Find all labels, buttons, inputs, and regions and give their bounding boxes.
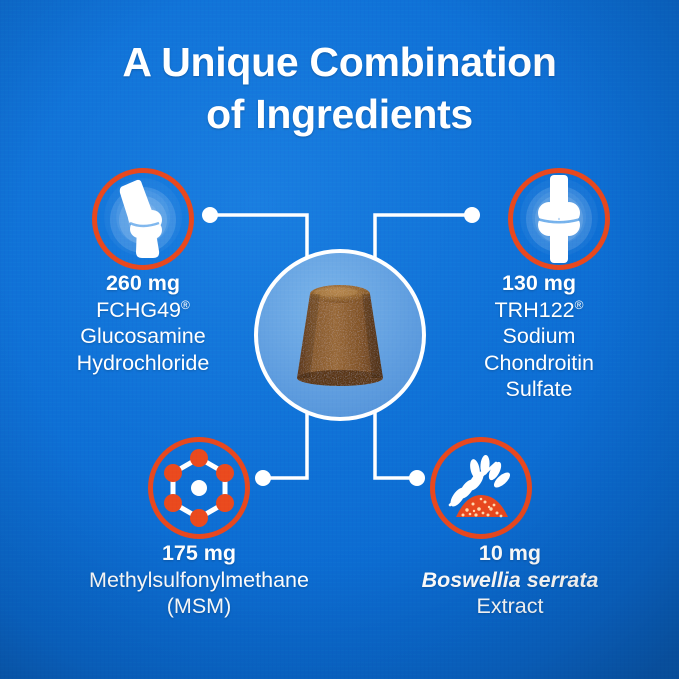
connector-bottom-right	[375, 410, 415, 478]
registered-mark-icon: ®	[181, 297, 190, 311]
amount-glucosamine: 260 mg	[23, 270, 263, 297]
name-glucosamine-brand: FCHG49®	[23, 297, 263, 324]
name-msm-line1: Methylsulfonylmethane	[49, 567, 349, 594]
title-line-2: of Ingredients	[0, 88, 679, 140]
icon-badge-glucosamine[interactable]	[92, 168, 194, 270]
page-title: A Unique Combination of Ingredients	[0, 36, 679, 140]
connector-dot-bottom-left	[255, 470, 271, 486]
herb-powder-icon	[440, 447, 522, 529]
name-chondroitin-line2: Sodium	[419, 323, 659, 350]
label-chondroitin: 130 mg TRH122® Sodium Chondroitin Sulfat…	[419, 270, 659, 403]
name-glucosamine-line3: Hydrochloride	[23, 350, 263, 377]
knee-joint-icon	[97, 173, 189, 265]
name-boswellia-species: Boswellia serrata	[365, 567, 655, 594]
connector-top-right	[375, 215, 470, 262]
connector-dot-top-left	[202, 207, 218, 223]
name-chondroitin-brand: TRH122®	[419, 297, 659, 324]
connector-bottom-left	[265, 410, 307, 478]
bone-joint-icon	[513, 173, 605, 265]
title-line-1: A Unique Combination	[0, 36, 679, 88]
amount-msm: 175 mg	[49, 540, 349, 567]
center-product-circle	[254, 249, 426, 421]
ingredients-infographic: A Unique Combination of Ingredients	[0, 0, 679, 679]
icon-badge-chondroitin[interactable]	[508, 168, 610, 270]
amount-boswellia: 10 mg	[365, 540, 655, 567]
name-glucosamine-line2: Glucosamine	[23, 323, 263, 350]
connector-top-left	[212, 215, 307, 262]
icon-badge-msm[interactable]	[148, 437, 250, 539]
label-glucosamine: 260 mg FCHG49® Glucosamine Hydrochloride	[23, 270, 263, 376]
name-boswellia-line2: Extract	[365, 593, 655, 620]
registered-mark-icon: ®	[575, 297, 584, 311]
name-chondroitin-line4: Sulfate	[419, 376, 659, 403]
name-msm-line2: (MSM)	[49, 593, 349, 620]
connector-dot-top-right	[464, 207, 480, 223]
name-chondroitin-line3: Chondroitin	[419, 350, 659, 377]
chewable-tablet-image	[288, 281, 392, 389]
connector-dot-bottom-right	[409, 470, 425, 486]
label-msm: 175 mg Methylsulfonylmethane (MSM)	[49, 540, 349, 620]
icon-badge-boswellia[interactable]	[430, 437, 532, 539]
molecule-icon	[159, 448, 239, 528]
amount-chondroitin: 130 mg	[419, 270, 659, 297]
label-boswellia: 10 mg Boswellia serrata Extract	[365, 540, 655, 620]
